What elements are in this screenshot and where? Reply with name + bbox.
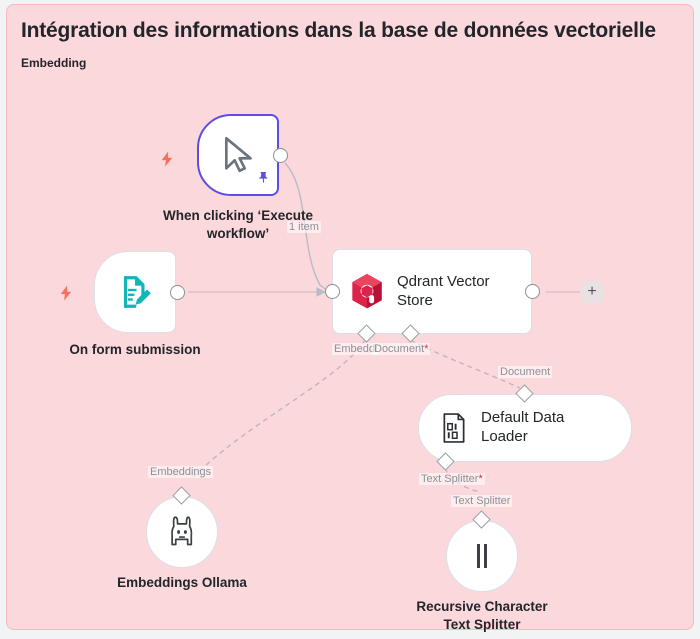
qdrant-title: Qdrant Vector Store: [397, 273, 490, 311]
text-splitter-body[interactable]: [446, 520, 518, 592]
node-qdrant-vector-store[interactable]: Qdrant Vector Store: [332, 249, 532, 334]
ollama-body[interactable]: [146, 496, 218, 568]
qdrant-logo-icon: [349, 273, 385, 311]
binary-document-icon: [441, 413, 467, 443]
document-port-text: Document: [374, 343, 424, 355]
qdrant-document-port-label: Document*: [372, 343, 430, 355]
document-required-marker: *: [424, 343, 428, 355]
sticky-note-subtitle: Embedding: [21, 56, 86, 70]
add-node-label: +: [587, 284, 596, 300]
add-node-button[interactable]: +: [581, 281, 603, 303]
sticky-note-title: Intégration des informations dans la bas…: [21, 19, 656, 43]
data-loader-document-label: Document: [498, 366, 552, 378]
form-edit-icon: [95, 252, 175, 332]
data-loader-body[interactable]: Default Data Loader: [418, 394, 632, 462]
form-submission-body[interactable]: [94, 251, 176, 333]
qdrant-body[interactable]: Qdrant Vector Store: [332, 249, 532, 334]
text-splitter-bars-icon: [469, 541, 495, 571]
form-submission-output-endpoint[interactable]: [170, 285, 185, 300]
pin-icon: [256, 170, 272, 191]
node-recursive-text-splitter[interactable]: Recursive Character Text Splitter: [446, 520, 518, 592]
items-count-label: 1 item: [287, 221, 321, 233]
manual-trigger-body[interactable]: [197, 114, 279, 196]
node-manual-trigger[interactable]: When clicking ‘Execute workflow’: [197, 114, 279, 196]
form-submission-caption: On form submission: [59, 341, 211, 359]
node-default-data-loader[interactable]: Default Data Loader: [418, 394, 632, 462]
text-splitter-port-label: Text Splitter: [451, 495, 512, 507]
ollama-llama-icon: [167, 515, 197, 549]
node-embeddings-ollama[interactable]: Embeddings Ollama: [146, 496, 218, 568]
data-loader-title: Default Data Loader: [481, 409, 609, 447]
form-submission-lightning-bolt-icon: [57, 282, 75, 309]
ollama-embeddings-label: Embeddings: [148, 466, 213, 478]
qdrant-output-endpoint[interactable]: [525, 284, 540, 299]
manual-trigger-output-endpoint[interactable]: [273, 148, 288, 163]
node-form-submission[interactable]: On form submission: [94, 251, 176, 333]
text-splitter-caption: Recursive Character Text Splitter: [398, 598, 566, 633]
manual-trigger-lightning-bolt-icon: [158, 148, 176, 175]
ollama-caption: Embeddings Ollama: [106, 574, 258, 592]
text-splitter-required-marker: *: [478, 473, 482, 485]
text-splitter-required-text: Text Splitter: [421, 473, 478, 485]
data-loader-text-splitter-label: Text Splitter*: [419, 473, 485, 485]
qdrant-input-endpoint[interactable]: [325, 284, 340, 299]
